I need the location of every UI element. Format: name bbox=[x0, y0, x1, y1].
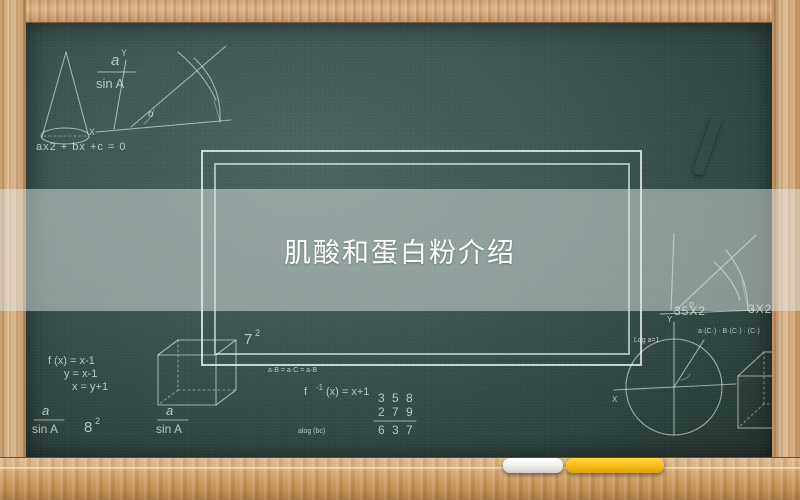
svg-text:a: a bbox=[166, 403, 173, 418]
svg-text:(x) = x+1: (x) = x+1 bbox=[326, 386, 369, 398]
svg-text:Y: Y bbox=[667, 315, 673, 324]
chalk-inverse-function: f -1 (x) = x+1 bbox=[304, 383, 369, 398]
chalk-function-equations: f (x) = x-1 y = x-1 x = y+1 bbox=[48, 355, 108, 393]
svg-text:x = y+1: x = y+1 bbox=[72, 381, 108, 393]
ledge-highlight bbox=[0, 467, 800, 470]
svg-text:2: 2 bbox=[95, 416, 100, 426]
svg-text:a·(C·) · B·(C·) · (C·): a·(C·) · B·(C·) · (C·) bbox=[698, 328, 760, 335]
svg-text:-1: -1 bbox=[316, 383, 324, 392]
svg-text:X: X bbox=[89, 127, 95, 137]
svg-text:sin A: sin A bbox=[156, 422, 182, 436]
svg-text:f (x) = x-1: f (x) = x-1 bbox=[48, 355, 95, 367]
svg-text:f: f bbox=[304, 386, 308, 398]
svg-text:a·B = a·C = a·B: a·B = a·C = a·B bbox=[268, 367, 317, 374]
chalk-cone-diagram bbox=[41, 52, 89, 144]
chalk-subtraction-problem: 3 5 8 2 7 9 6 3 7 bbox=[374, 391, 416, 437]
svg-text:o: o bbox=[148, 109, 154, 120]
svg-text:sin A: sin A bbox=[32, 422, 58, 436]
frame-edge-bottom-ledge bbox=[0, 457, 800, 500]
svg-text:alog (bc): alog (bc) bbox=[298, 428, 325, 435]
svg-text:a: a bbox=[42, 403, 49, 418]
svg-text:X: X bbox=[612, 395, 618, 404]
chalk-cube-diagram-right bbox=[738, 352, 772, 428]
svg-text:2 7 9: 2 7 9 bbox=[378, 405, 415, 419]
chalk-stick-white-tray bbox=[503, 458, 563, 473]
svg-text:6 3 7: 6 3 7 bbox=[378, 423, 415, 437]
svg-text:8: 8 bbox=[84, 419, 92, 436]
svg-text:ax2 + bx +c = 0: ax2 + bx +c = 0 bbox=[36, 141, 127, 153]
page-title: 肌酸和蛋白粉介绍 bbox=[284, 231, 516, 270]
svg-text:3 5 8: 3 5 8 bbox=[378, 391, 415, 405]
blackboard-banner: a sin A ax2 + bx +c = 0 Y X o bbox=[0, 0, 800, 500]
chalk-stick-yellow-tray bbox=[566, 458, 664, 473]
svg-text:sin A: sin A bbox=[96, 76, 125, 91]
svg-text:y = x-1: y = x-1 bbox=[64, 368, 97, 380]
title-overlay-band: 肌酸和蛋白粉介绍 bbox=[0, 189, 800, 311]
svg-text:a: a bbox=[111, 52, 119, 69]
svg-text:Y: Y bbox=[121, 48, 127, 58]
frame-edge-top bbox=[0, 0, 800, 23]
